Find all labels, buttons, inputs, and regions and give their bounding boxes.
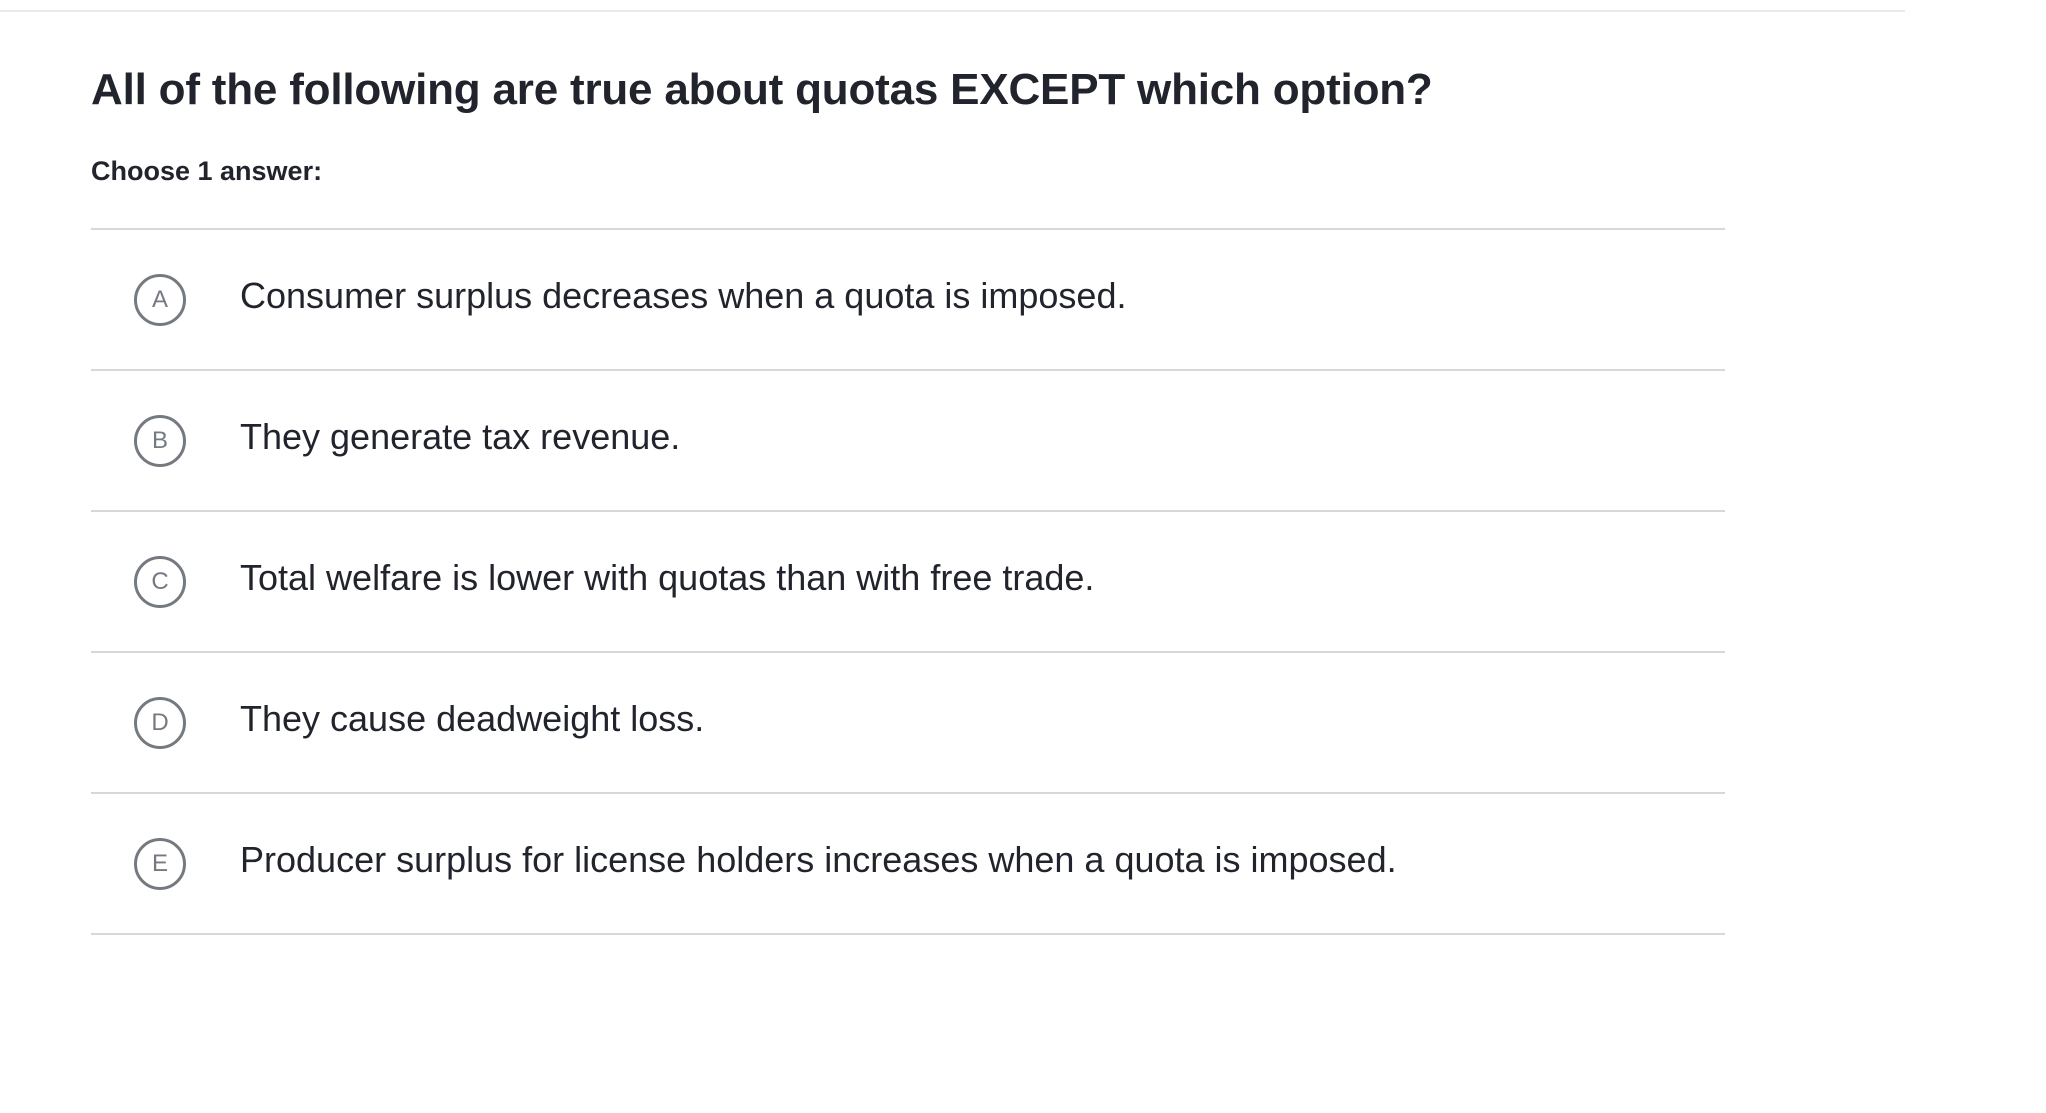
answer-choice-e[interactable]: E Producer surplus for license holders i…: [91, 794, 1725, 935]
answer-choice-b[interactable]: B They generate tax revenue.: [91, 371, 1725, 512]
choice-text-d[interactable]: They cause deadweight loss.: [240, 694, 1640, 744]
choice-letter-circle-b[interactable]: B: [134, 415, 186, 467]
choice-text-a[interactable]: Consumer surplus decreases when a quota …: [240, 271, 1640, 321]
answer-choice-list: A Consumer surplus decreases when a quot…: [91, 228, 1725, 935]
choice-letter-circle-d[interactable]: D: [134, 697, 186, 749]
choice-letter-circle-e[interactable]: E: [134, 838, 186, 890]
answer-choice-a[interactable]: A Consumer surplus decreases when a quot…: [91, 230, 1725, 371]
answer-choice-d[interactable]: D They cause deadweight loss.: [91, 653, 1725, 794]
choice-text-c[interactable]: Total welfare is lower with quotas than …: [240, 553, 1640, 603]
choose-instruction-label: Choose 1 answer:: [91, 117, 1731, 189]
choice-letter-circle-a[interactable]: A: [134, 274, 186, 326]
question-content: All of the following are true about quot…: [91, 0, 1731, 935]
exercise-page: All of the following are true about quot…: [0, 0, 2046, 1113]
choice-text-e[interactable]: Producer surplus for license holders inc…: [240, 835, 1640, 885]
question-title: All of the following are true about quot…: [91, 0, 1731, 117]
answer-choice-c[interactable]: C Total welfare is lower with quotas tha…: [91, 512, 1725, 653]
choice-text-b[interactable]: They generate tax revenue.: [240, 412, 1640, 462]
choice-letter-circle-c[interactable]: C: [134, 556, 186, 608]
